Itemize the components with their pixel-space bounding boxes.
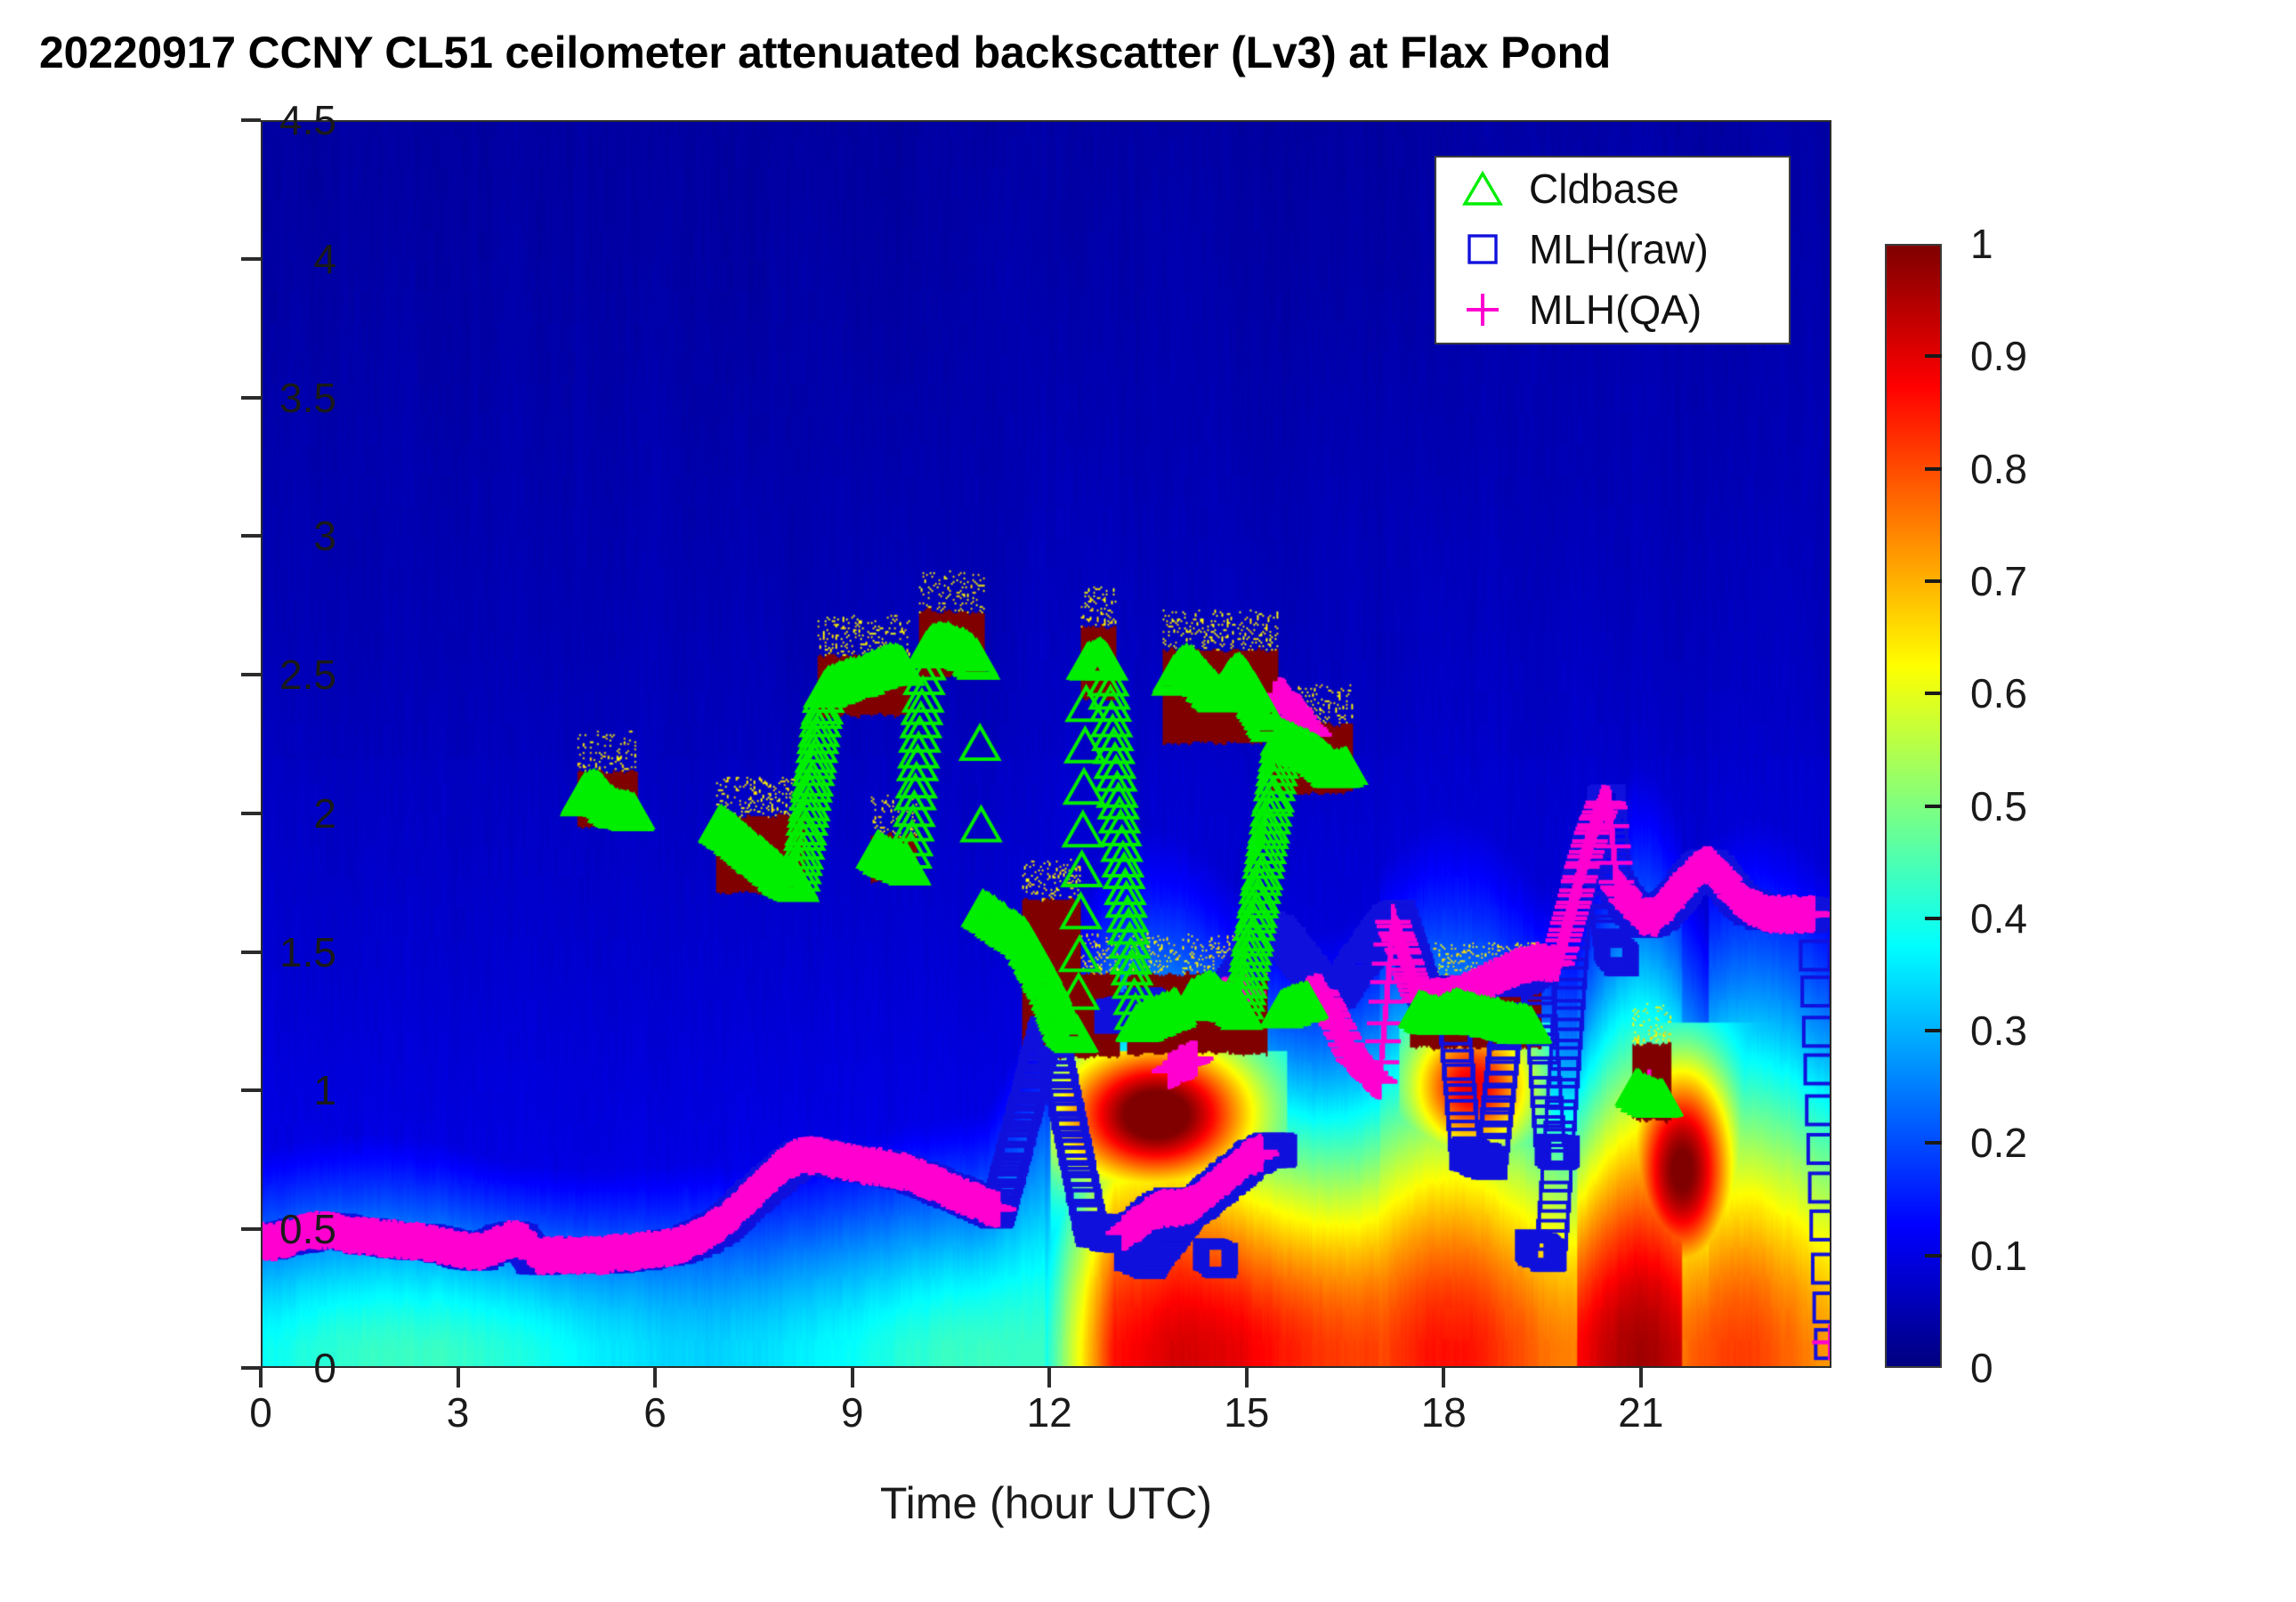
- x-tick-mark: [653, 1368, 657, 1388]
- x-tick-mark: [457, 1368, 460, 1388]
- y-tick-mark: [241, 951, 261, 954]
- x-tick-label: 6: [584, 1388, 726, 1436]
- x-tick-mark: [1639, 1368, 1643, 1388]
- legend-entry-mlh-qa: MLH(QA): [1436, 282, 1789, 337]
- x-tick-label: 18: [1372, 1388, 1515, 1436]
- x-tick-label: 21: [1570, 1388, 1712, 1436]
- y-tick-mark: [241, 118, 261, 122]
- legend-label-mlh-raw: MLH(raw): [1529, 225, 1709, 273]
- plus-icon: [1436, 282, 1529, 337]
- x-tick-mark: [1047, 1368, 1051, 1388]
- colorbar-tick-mark: [1925, 692, 1942, 695]
- x-tick-label: 9: [781, 1388, 924, 1436]
- y-tick-mark: [241, 1227, 261, 1231]
- colorbar-tick-mark: [1925, 805, 1942, 808]
- colorbar-tick-mark: [1925, 467, 1942, 471]
- x-tick-label: 12: [978, 1388, 1120, 1436]
- colorbar-tick-label: 1: [1970, 220, 1993, 268]
- colorbar-tick-label: 0.8: [1970, 445, 2027, 493]
- x-tick-mark: [259, 1368, 263, 1388]
- colorbar-tick-label: 0: [1970, 1344, 1993, 1392]
- colorbar-tick-label: 0.5: [1970, 782, 2027, 830]
- x-tick-label: 0: [190, 1388, 332, 1436]
- colorbar-tick-mark: [1925, 354, 1942, 358]
- figure-title: 20220917 CCNY CL51 ceilometer attenuated…: [39, 27, 2175, 78]
- legend-label-mlh-qa: MLH(QA): [1529, 286, 1702, 334]
- square-outline-icon: [1436, 222, 1529, 277]
- x-tick-mark: [851, 1368, 854, 1388]
- y-tick-mark: [241, 396, 261, 400]
- colorbar-tick-label: 0.1: [1970, 1232, 2027, 1280]
- colorbar-tick-label: 0.7: [1970, 557, 2027, 605]
- colorbar-tick-mark: [1925, 1141, 1942, 1145]
- legend-label-cldbase: Cldbase: [1529, 165, 1679, 213]
- y-tick-mark: [241, 1088, 261, 1092]
- y-tick-mark: [241, 812, 261, 815]
- colorbar-tick-label: 0.9: [1970, 332, 2027, 380]
- legend: Cldbase MLH(raw) MLH(QA): [1435, 156, 1791, 344]
- triangle-up-outline-icon: [1436, 161, 1529, 216]
- colorbar-tick-mark: [1925, 579, 1942, 583]
- x-tick-mark: [1245, 1368, 1249, 1388]
- colorbar-tick-mark: [1925, 1029, 1942, 1032]
- y-tick-mark: [241, 673, 261, 676]
- legend-entry-cldbase: Cldbase: [1436, 161, 1789, 216]
- x-axis-label: Time (hour UTC): [261, 1477, 1831, 1529]
- colorbar-tick-mark: [1925, 1254, 1942, 1258]
- x-tick-mark: [1442, 1368, 1445, 1388]
- colorbar-tick-label: 0.2: [1970, 1119, 2027, 1167]
- y-tick-mark: [241, 534, 261, 538]
- x-tick-label: 15: [1176, 1388, 1318, 1436]
- x-tick-label: 3: [387, 1388, 530, 1436]
- y-tick-mark: [241, 1366, 261, 1370]
- y-tick-mark: [241, 257, 261, 261]
- colorbar-tick-label: 0.3: [1970, 1007, 2027, 1055]
- colorbar-tick-label: 0.6: [1970, 669, 2027, 717]
- colorbar-tick-mark: [1925, 917, 1942, 920]
- legend-entry-mlh-raw: MLH(raw): [1436, 222, 1789, 277]
- colorbar-tick-label: 0.4: [1970, 894, 2027, 943]
